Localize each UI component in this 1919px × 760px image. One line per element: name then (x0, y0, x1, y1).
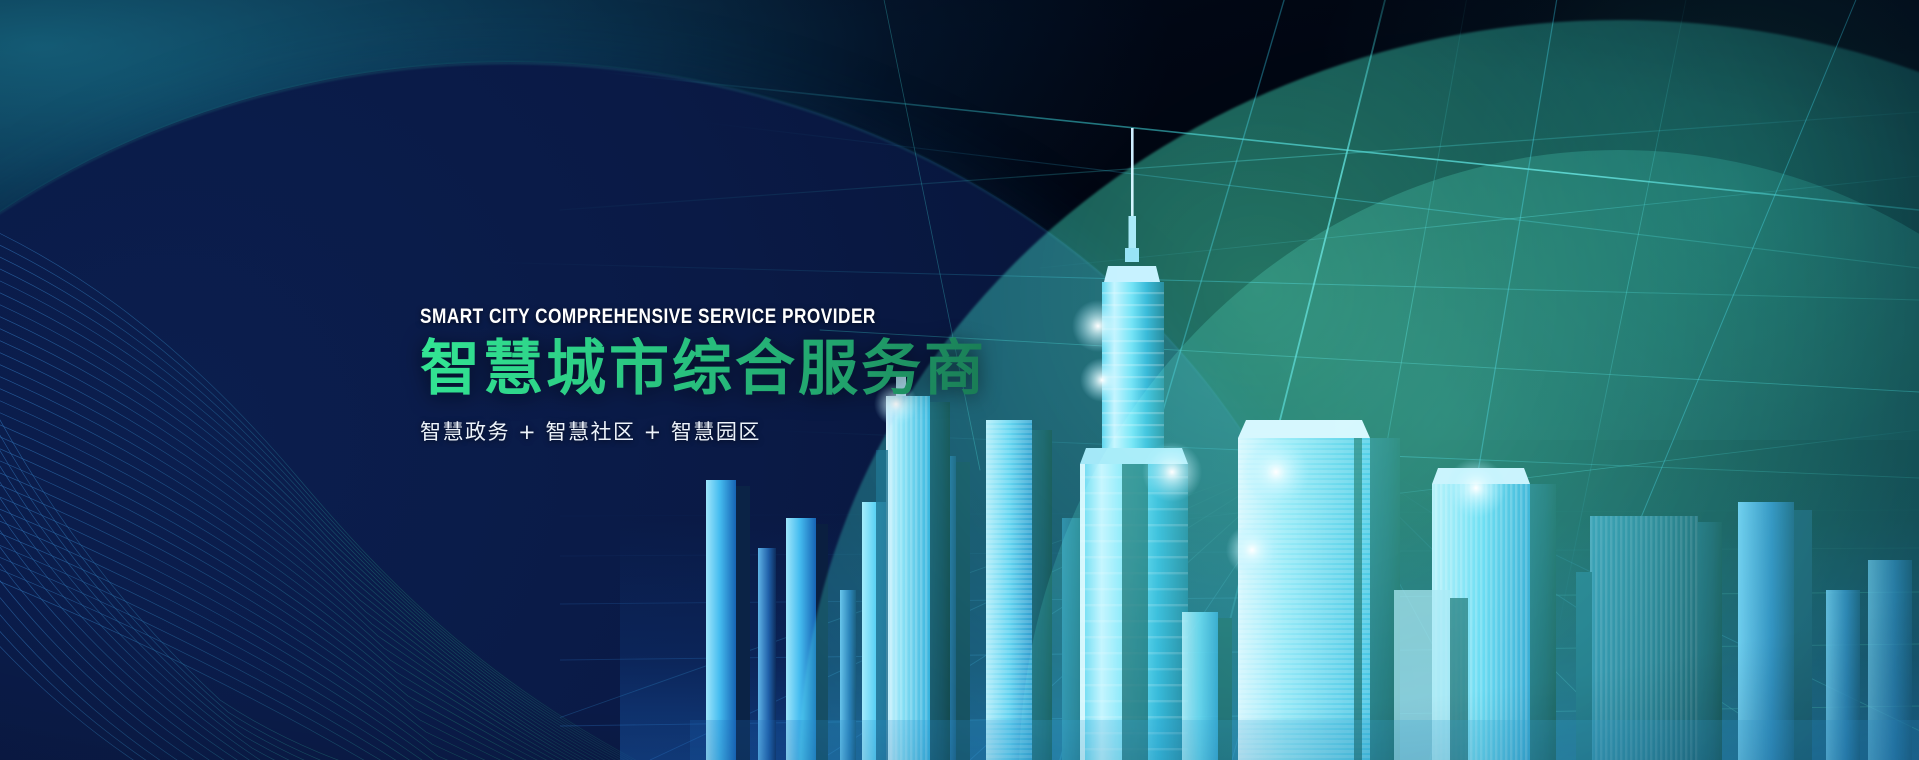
hero-eyebrow-english: SMART CITY COMPREHENSIVE SERVICE PROVIDE… (420, 306, 945, 327)
hero-text-block: SMART CITY COMPREHENSIVE SERVICE PROVIDE… (420, 306, 1060, 446)
hero-subtitle: 智慧政务 + 智慧社区 + 智慧园区 (420, 416, 1060, 446)
green-topright-halo (1279, 0, 1919, 440)
page-title: 智慧城市综合服务商 (420, 337, 1060, 402)
hero-banner: SMART CITY COMPREHENSIVE SERVICE PROVIDE… (0, 0, 1919, 760)
